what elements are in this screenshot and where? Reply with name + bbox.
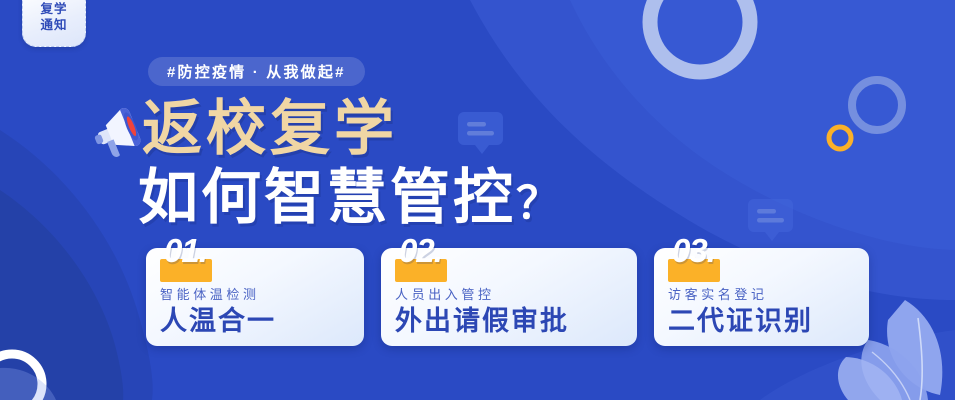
corner-notice-tag: 复学 通知 <box>22 0 86 47</box>
feature-card-1[interactable]: 01. 智能体温检测 人温合一 <box>146 248 364 346</box>
card-3-number: 03. <box>672 234 715 267</box>
card-2-title: 外出请假审批 <box>395 308 623 335</box>
card-1-number: 01. <box>164 234 207 267</box>
title-line-2-text: 如何智慧管控 <box>138 164 516 231</box>
card-1-subtitle: 智能体温检测 <box>160 284 350 303</box>
return-to-school-banner: 复学 通知 #防控疫情 · 从我做起# 返校复学 如何智慧管控？ <box>0 0 955 400</box>
corner-tag-line1: 复学 <box>40 2 67 16</box>
title-question-mark: ？ <box>516 179 560 228</box>
feature-card-list: 01. 智能体温检测 人温合一 02. 人员出入管控 外出请假审批 03. 访客… <box>146 248 869 346</box>
title-line-1: 返校复学 <box>142 99 398 159</box>
card-2-subtitle: 人员出入管控 <box>395 284 623 303</box>
card-3-title: 二代证识别 <box>668 308 855 335</box>
card-2-number: 02. <box>399 234 442 267</box>
hashtag-text: #防控疫情 · 从我做起# <box>167 61 346 82</box>
hashtag-pill: #防控疫情 · 从我做起# <box>148 57 365 86</box>
corner-tag-line2: 通知 <box>40 18 67 32</box>
card-3-subtitle: 访客实名登记 <box>668 284 855 303</box>
title-line-2: 如何智慧管控？ <box>138 168 560 228</box>
feature-card-2[interactable]: 02. 人员出入管控 外出请假审批 <box>381 248 637 346</box>
feature-card-3[interactable]: 03. 访客实名登记 二代证识别 <box>654 248 869 346</box>
banner-content: #防控疫情 · 从我做起# 返校复学 如何智慧管控？ 01. 智能体温检 <box>0 0 955 400</box>
card-1-title: 人温合一 <box>160 308 350 335</box>
